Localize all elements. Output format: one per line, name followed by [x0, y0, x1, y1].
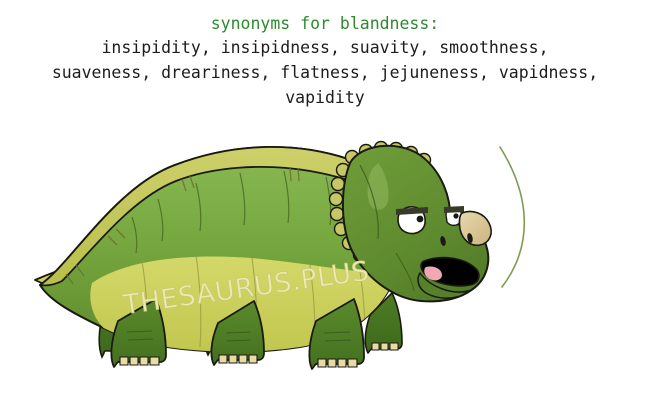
thesaurus-page: synonyms for blandness: insipidity, insi…	[0, 0, 650, 400]
synonyms-text-block: synonyms for blandness: insipidity, insi…	[0, 12, 650, 110]
motion-arc-decoration	[500, 147, 524, 287]
eye-far-pupil	[453, 213, 458, 218]
hind-leg-far-claws	[372, 343, 398, 350]
hind-leg-right-claws	[318, 359, 357, 367]
eye-far-lid	[444, 206, 464, 213]
dinosaur-illustration: THESAURUS.PLUS	[0, 125, 650, 400]
synonyms-line-3: vapidity	[0, 85, 650, 110]
eye-pupil	[417, 216, 424, 223]
synonyms-line-1: insipidity, insipidness, suavity, smooth…	[0, 35, 650, 60]
page-title: synonyms for blandness:	[0, 12, 650, 35]
synonyms-line-2: suaveness, dreariness, flatness, jejunen…	[0, 60, 650, 85]
front-leg-left-claws	[120, 357, 159, 365]
